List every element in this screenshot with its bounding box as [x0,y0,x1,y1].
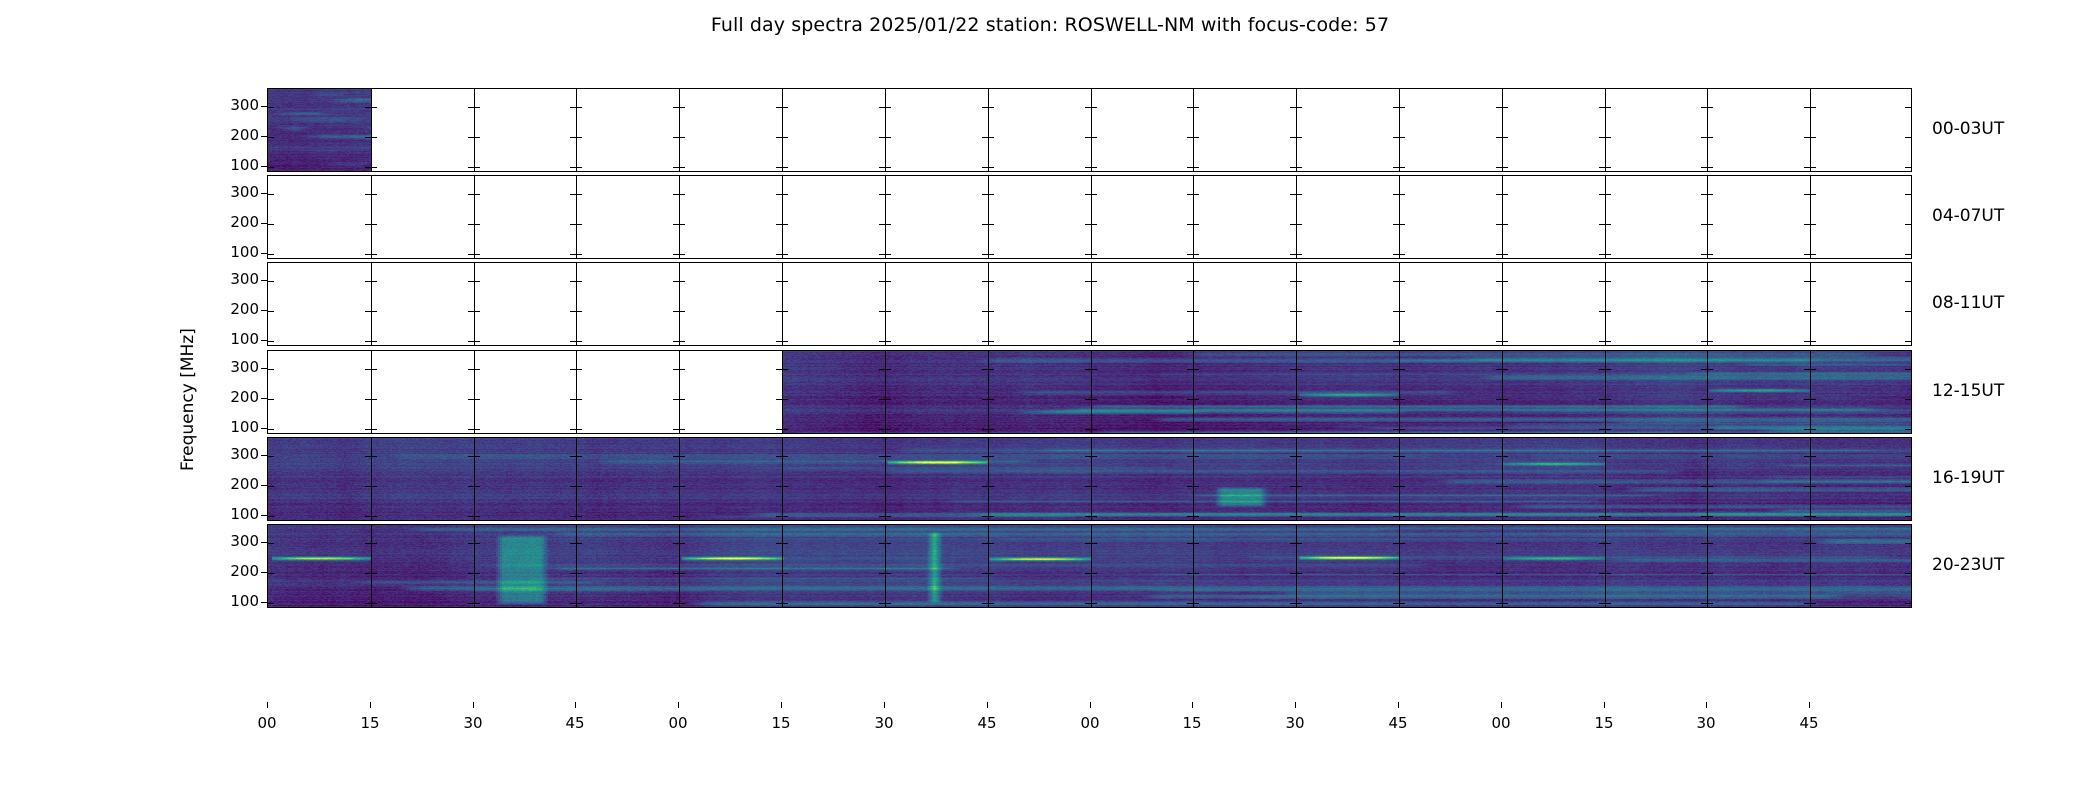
y-tick-mark [1707,167,1713,168]
figure-canvas: Full day spectra 2025/01/22 station: ROS… [0,0,2100,800]
panel-separator [1296,176,1297,258]
y-tick-mark [1701,107,1707,108]
y-tick-mark [1091,194,1097,195]
y-tick-mark [371,341,377,342]
y-tick-mark [468,311,474,312]
y-tick-mark [1605,311,1611,312]
x-tick-label: 00 [1481,714,1521,732]
y-tick-mark [365,194,371,195]
y-tick-mark [365,311,371,312]
y-tick-mark [673,224,679,225]
y-tick-mark [1091,311,1097,312]
panel-separator [1605,263,1606,345]
x-tick-label: 00 [247,714,287,732]
y-tick-label: 100 [213,156,259,174]
y-tick-mark [1496,194,1502,195]
panel-separator [1296,263,1297,345]
y-tick-mark-outer [261,253,267,254]
y-tick-mark [1496,311,1502,312]
y-tick-mark [570,311,576,312]
y-tick-mark [982,311,988,312]
y-tick-label: 100 [213,418,259,436]
y-tick-mark [1810,254,1816,255]
y-tick-mark [885,311,891,312]
y-tick-mark [1605,341,1611,342]
x-tick-mark-outer [1501,702,1502,708]
y-tick-mark [474,341,480,342]
y-tick-mark [576,369,582,370]
y-tick-mark [371,399,377,400]
y-tick-mark [268,399,274,400]
panel-separator [1810,89,1811,171]
y-tick-mark [1091,281,1097,282]
y-tick-mark [1393,254,1399,255]
figure-title: Full day spectra 2025/01/22 station: ROS… [0,14,2100,36]
x-tick-mark-outer [575,702,576,708]
y-tick-mark [268,281,274,282]
panel-separator [1502,263,1503,345]
y-tick-mark [673,167,679,168]
y-tick-mark [1296,254,1302,255]
y-tick-mark-outer [261,340,267,341]
y-tick-mark-outer [261,106,267,107]
y-tick-mark [1701,137,1707,138]
y-tick-mark [371,281,377,282]
y-tick-mark-outer [261,542,267,543]
y-tick-mark [474,254,480,255]
y-tick-mark [673,369,679,370]
y-tick-mark [982,224,988,225]
y-tick-mark [1296,281,1302,282]
y-tick-mark [673,194,679,195]
y-tick-mark [468,341,474,342]
y-tick-mark [268,429,274,430]
spectrogram-row [267,524,1912,608]
y-tick-mark [1599,167,1605,168]
panel-separator [371,263,372,345]
y-tick-mark [1707,311,1713,312]
y-tick-mark [1502,311,1508,312]
y-tick-mark [1804,281,1810,282]
y-tick-mark [1707,281,1713,282]
y-tick-mark [982,107,988,108]
y-tick-mark [474,107,480,108]
y-tick-label: 300 [213,445,259,463]
y-tick-mark [1091,224,1097,225]
y-tick-mark [1502,137,1508,138]
y-tick-mark [468,369,474,370]
y-tick-mark [1804,224,1810,225]
y-tick-mark [679,167,685,168]
y-tick-mark [365,429,371,430]
y-tick-mark [1296,224,1302,225]
y-tick-mark [885,281,891,282]
y-tick-mark [1599,254,1605,255]
y-tick-mark [1393,107,1399,108]
y-tick-mark [576,167,582,168]
spectrogram-row [267,437,1912,521]
y-tick-mark [365,224,371,225]
y-tick-mark [1707,254,1713,255]
y-tick-mark [474,137,480,138]
panel-separator [1399,89,1400,171]
y-tick-mark [879,107,885,108]
y-tick-mark [1496,281,1502,282]
panel-separator [1707,176,1708,258]
y-tick-mark [1810,167,1816,168]
y-tick-mark [570,369,576,370]
y-tick-mark [879,194,885,195]
panel-separator [988,263,989,345]
y-tick-mark [1393,311,1399,312]
y-tick-label: 200 [213,300,259,318]
y-tick-mark [679,137,685,138]
y-tick-mark [371,137,377,138]
y-tick-mark [365,254,371,255]
y-tick-mark [885,137,891,138]
y-tick-mark [371,369,377,370]
y-tick-mark [679,254,685,255]
y-tick-mark [879,137,885,138]
y-tick-mark [365,369,371,370]
y-tick-mark [570,224,576,225]
y-tick-mark [885,167,891,168]
y-tick-mark [1085,281,1091,282]
y-tick-mark [679,341,685,342]
panel-separator [1399,263,1400,345]
spectrogram-row [267,350,1912,434]
y-tick-label: 200 [213,562,259,580]
y-tick-mark [679,429,685,430]
row-time-label: 16-19UT [1932,468,2004,488]
panel-separator [782,176,783,258]
y-tick-mark [576,341,582,342]
y-tick-mark [570,254,576,255]
y-tick-mark [1810,137,1816,138]
y-tick-mark [371,167,377,168]
y-tick-mark [1701,167,1707,168]
x-tick-mark-outer [370,702,371,708]
x-tick-mark-outer [473,702,474,708]
y-tick-mark [776,254,782,255]
y-tick-mark [468,429,474,430]
y-tick-mark [1085,341,1091,342]
x-tick-label: 00 [658,714,698,732]
x-tick-mark-outer [267,702,268,708]
y-tick-mark [1399,224,1405,225]
y-tick-mark [1502,194,1508,195]
y-tick-mark [1599,137,1605,138]
y-tick-mark [1193,341,1199,342]
y-tick-mark [879,341,885,342]
y-tick-label: 100 [213,243,259,261]
y-tick-mark [576,194,582,195]
panel-separator [1605,176,1606,258]
panel-separator [474,176,475,258]
y-tick-label: 300 [213,96,259,114]
y-tick-mark [468,137,474,138]
y-tick-mark [1905,224,1911,225]
x-tick-label: 30 [453,714,493,732]
y-tick-mark [776,311,782,312]
y-tick-mark [1393,341,1399,342]
y-tick-mark [1599,341,1605,342]
x-tick-mark-outer [1706,702,1707,708]
y-tick-mark [1296,167,1302,168]
y-tick-mark [1810,107,1816,108]
y-tick-mark [1393,137,1399,138]
y-tick-mark [1193,281,1199,282]
y-tick-mark [1810,281,1816,282]
y-tick-mark [885,341,891,342]
panel-separator [885,176,886,258]
y-tick-mark-outer [261,310,267,311]
panel-separator [1091,263,1092,345]
y-tick-mark [679,399,685,400]
spectrogram-image [268,89,371,172]
y-tick-mark [1187,137,1193,138]
y-tick-mark [268,369,274,370]
y-tick-mark [570,137,576,138]
spectrogram-image [268,438,1912,521]
panel-separator [782,263,783,345]
y-tick-mark [468,167,474,168]
y-tick-mark [576,254,582,255]
x-tick-mark-outer [884,702,885,708]
x-tick-label: 15 [761,714,801,732]
y-tick-mark [1085,137,1091,138]
y-tick-mark [1187,254,1193,255]
y-tick-mark [268,194,274,195]
y-tick-mark [782,167,788,168]
y-tick-mark-outer [261,368,267,369]
y-tick-mark [1905,194,1911,195]
y-tick-mark [1810,311,1816,312]
y-tick-mark [1502,281,1508,282]
y-tick-mark [1296,137,1302,138]
y-tick-label: 200 [213,475,259,493]
y-tick-mark [776,167,782,168]
y-tick-mark [1502,107,1508,108]
y-tick-mark [1290,107,1296,108]
y-tick-label: 100 [213,505,259,523]
y-tick-mark [576,281,582,282]
y-tick-mark-outer [261,428,267,429]
row-time-label: 08-11UT [1932,293,2004,313]
y-tick-mark [468,399,474,400]
y-tick-mark [371,429,377,430]
y-tick-mark [570,429,576,430]
y-tick-label: 100 [213,330,259,348]
y-tick-mark [365,399,371,400]
y-tick-mark [673,137,679,138]
y-tick-mark [679,224,685,225]
y-tick-mark [1701,254,1707,255]
x-tick-mark-outer [678,702,679,708]
panel-separator [679,263,680,345]
y-tick-mark [1707,107,1713,108]
y-tick-mark [673,107,679,108]
y-tick-mark [679,107,685,108]
y-tick-mark [776,341,782,342]
y-tick-mark [1085,107,1091,108]
x-tick-mark-outer [987,702,988,708]
y-tick-label: 300 [213,358,259,376]
y-tick-mark [1290,137,1296,138]
y-tick-mark [1091,137,1097,138]
y-tick-mark [776,137,782,138]
y-tick-mark [1701,311,1707,312]
y-tick-mark [1804,167,1810,168]
y-tick-mark [1599,107,1605,108]
y-tick-mark [1496,254,1502,255]
x-tick-mark-outer [1809,702,1810,708]
panel-separator [1502,176,1503,258]
y-tick-mark [1187,281,1193,282]
y-tick-mark [982,254,988,255]
y-tick-mark [1290,194,1296,195]
y-tick-mark [1393,194,1399,195]
y-tick-mark [879,254,885,255]
y-tick-mark [982,341,988,342]
x-tick-mark-outer [781,702,782,708]
y-tick-mark [1707,224,1713,225]
y-tick-mark [988,311,994,312]
y-tick-mark [1707,341,1713,342]
y-tick-mark [1599,194,1605,195]
y-tick-mark-outer [261,166,267,167]
y-tick-mark [1290,281,1296,282]
y-tick-mark-outer [261,398,267,399]
y-tick-mark [474,194,480,195]
y-tick-mark [1290,341,1296,342]
y-tick-mark-outer [261,572,267,573]
y-tick-mark [1393,281,1399,282]
row-time-label: 12-15UT [1932,381,2004,401]
panel-separator [1707,89,1708,171]
panel-separator [679,89,680,171]
y-tick-mark [1496,167,1502,168]
y-tick-mark [1187,194,1193,195]
y-tick-mark [468,254,474,255]
y-tick-mark [1605,194,1611,195]
y-tick-mark [1091,341,1097,342]
y-tick-mark-outer [261,280,267,281]
row-time-label: 04-07UT [1932,206,2004,226]
panel-separator [474,351,475,433]
y-tick-label: 300 [213,270,259,288]
y-tick-mark [576,399,582,400]
y-tick-mark-outer [261,455,267,456]
panel-separator [1296,89,1297,171]
y-tick-mark [1296,341,1302,342]
y-tick-mark [879,311,885,312]
spectrogram-image [782,351,1912,434]
y-tick-mark [1193,167,1199,168]
y-tick-mark [776,194,782,195]
panel-separator [371,176,372,258]
y-tick-mark [1905,341,1911,342]
x-tick-label: 15 [350,714,390,732]
y-tick-mark [885,194,891,195]
y-tick-mark [1701,194,1707,195]
y-tick-mark [1187,311,1193,312]
y-tick-mark [468,281,474,282]
x-tick-label: 45 [555,714,595,732]
y-tick-mark [371,311,377,312]
y-tick-mark [1810,224,1816,225]
y-tick-mark [268,341,274,342]
y-tick-mark [1085,254,1091,255]
y-tick-mark-outer [261,485,267,486]
panel-separator [576,89,577,171]
y-tick-mark [1496,137,1502,138]
y-tick-mark [1605,281,1611,282]
y-tick-mark [879,167,885,168]
x-tick-label: 30 [864,714,904,732]
x-tick-mark-outer [1295,702,1296,708]
y-tick-mark [776,224,782,225]
y-tick-mark [576,107,582,108]
x-tick-mark-outer [1604,702,1605,708]
panel-separator [576,263,577,345]
panel-separator [474,89,475,171]
y-tick-mark [371,224,377,225]
y-tick-mark [474,399,480,400]
y-tick-mark [885,224,891,225]
y-tick-mark [1290,167,1296,168]
y-tick-mark-outer [261,136,267,137]
y-tick-mark [365,281,371,282]
y-tick-mark [673,281,679,282]
x-tick-label: 45 [1789,714,1829,732]
spectrogram-row [267,262,1912,346]
y-tick-mark [782,224,788,225]
y-tick-mark [1605,137,1611,138]
panel-separator [679,176,680,258]
y-tick-mark [1502,254,1508,255]
y-tick-mark [1502,341,1508,342]
y-tick-mark [570,399,576,400]
y-tick-mark [679,369,685,370]
panel-separator [576,176,577,258]
y-tick-mark [570,341,576,342]
y-tick-label: 200 [213,126,259,144]
y-tick-mark [988,224,994,225]
y-tick-mark [1187,107,1193,108]
panel-separator [988,176,989,258]
panel-separator [1193,89,1194,171]
y-tick-mark [1085,224,1091,225]
y-tick-mark [365,341,371,342]
y-tick-mark [268,224,274,225]
y-tick-mark [988,281,994,282]
panel-separator [679,351,680,433]
y-tick-mark [679,311,685,312]
y-tick-mark [1905,311,1911,312]
y-tick-mark [1701,341,1707,342]
row-time-label: 20-23UT [1932,555,2004,575]
y-tick-mark [576,137,582,138]
y-tick-mark [1599,224,1605,225]
y-tick-label: 200 [213,213,259,231]
panel-separator [1193,263,1194,345]
y-tick-mark [1091,254,1097,255]
y-tick-label: 300 [213,183,259,201]
y-tick-mark [982,281,988,282]
panel-separator [576,351,577,433]
panel-separator [371,89,372,171]
